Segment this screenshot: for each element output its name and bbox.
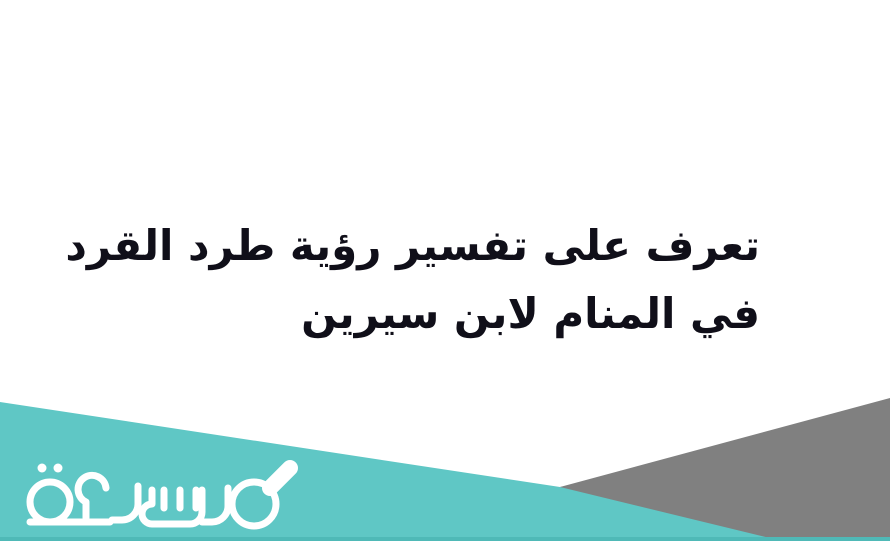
title-line-1: تعرف على تفسير رؤية طرد القرد [110, 212, 760, 280]
logo-letter-seen [142, 490, 202, 524]
logo-letter-waw-2 [112, 486, 138, 520]
page-title: تعرف على تفسير رؤية طرد القرد في المنام … [110, 212, 760, 348]
logo-letter-ain [78, 475, 106, 518]
title-line-2: في المنام لابن سيرين [110, 280, 760, 348]
brand-logo[interactable] [14, 452, 300, 536]
magnifier-handle-icon [270, 468, 290, 488]
logo-taa-dots-icon [38, 464, 63, 473]
logo-artwork [14, 452, 300, 536]
logo-letter-waw [202, 488, 228, 522]
logo-letter-taa-marbuta [30, 482, 70, 522]
title-card-canvas: تعرف على تفسير رؤية طرد القرد في المنام … [0, 0, 890, 541]
bottom-teal-strip [0, 537, 890, 541]
gray-lower-overlay [560, 440, 890, 541]
gray-diagonal-wedge [560, 398, 890, 541]
